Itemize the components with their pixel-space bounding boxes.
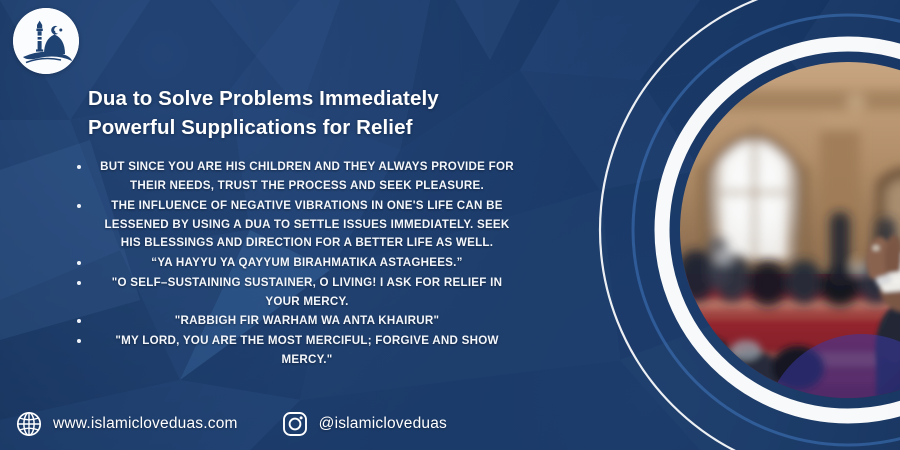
title-line-1: Dua to Solve Problems Immediately	[88, 84, 528, 113]
website-label: www.islamicloveduas.com	[53, 415, 238, 433]
instagram-label: @islamicloveduas	[319, 415, 447, 433]
footer-bar: www.islamicloveduas.com @islamicloveduas	[16, 411, 447, 437]
man-praying-in-mosque-photo	[680, 62, 900, 398]
poster-canvas: Dua to Solve Problems Immediately Powerf…	[0, 0, 900, 450]
photo-composition	[556, 0, 900, 450]
title-line-2: Powerful Supplications for Relief	[88, 113, 528, 142]
list-item: "O SELF–SUSTAINING SUSTAINER, O LIVING! …	[58, 274, 528, 312]
bullet-list: BUT SINCE YOU ARE HIS CHILDREN AND THEY …	[58, 158, 528, 370]
list-item: BUT SINCE YOU ARE HIS CHILDREN AND THEY …	[58, 158, 528, 196]
list-item: “YA HAYYU YA QAYYUM BIRAHMATIKA ASTAGHEE…	[58, 254, 528, 273]
globe-icon	[16, 411, 42, 437]
instagram-link[interactable]: @islamicloveduas	[282, 411, 447, 437]
mosque-dome-crescent-icon	[13, 8, 79, 74]
list-item: "MY LORD, YOU ARE THE MOST MERCIFUL; FOR…	[58, 332, 528, 370]
brand-logo	[13, 8, 79, 74]
instagram-icon	[282, 411, 308, 437]
page-title: Dua to Solve Problems Immediately Powerf…	[58, 84, 528, 142]
text-content-column: Dua to Solve Problems Immediately Powerf…	[58, 84, 528, 371]
website-link[interactable]: www.islamicloveduas.com	[16, 411, 238, 437]
list-item: THE INFLUENCE OF NEGATIVE VIBRATIONS IN …	[58, 197, 528, 253]
list-item: "RABBIGH FIR WARHAM WA ANTA KHAIRUR"	[58, 312, 528, 331]
